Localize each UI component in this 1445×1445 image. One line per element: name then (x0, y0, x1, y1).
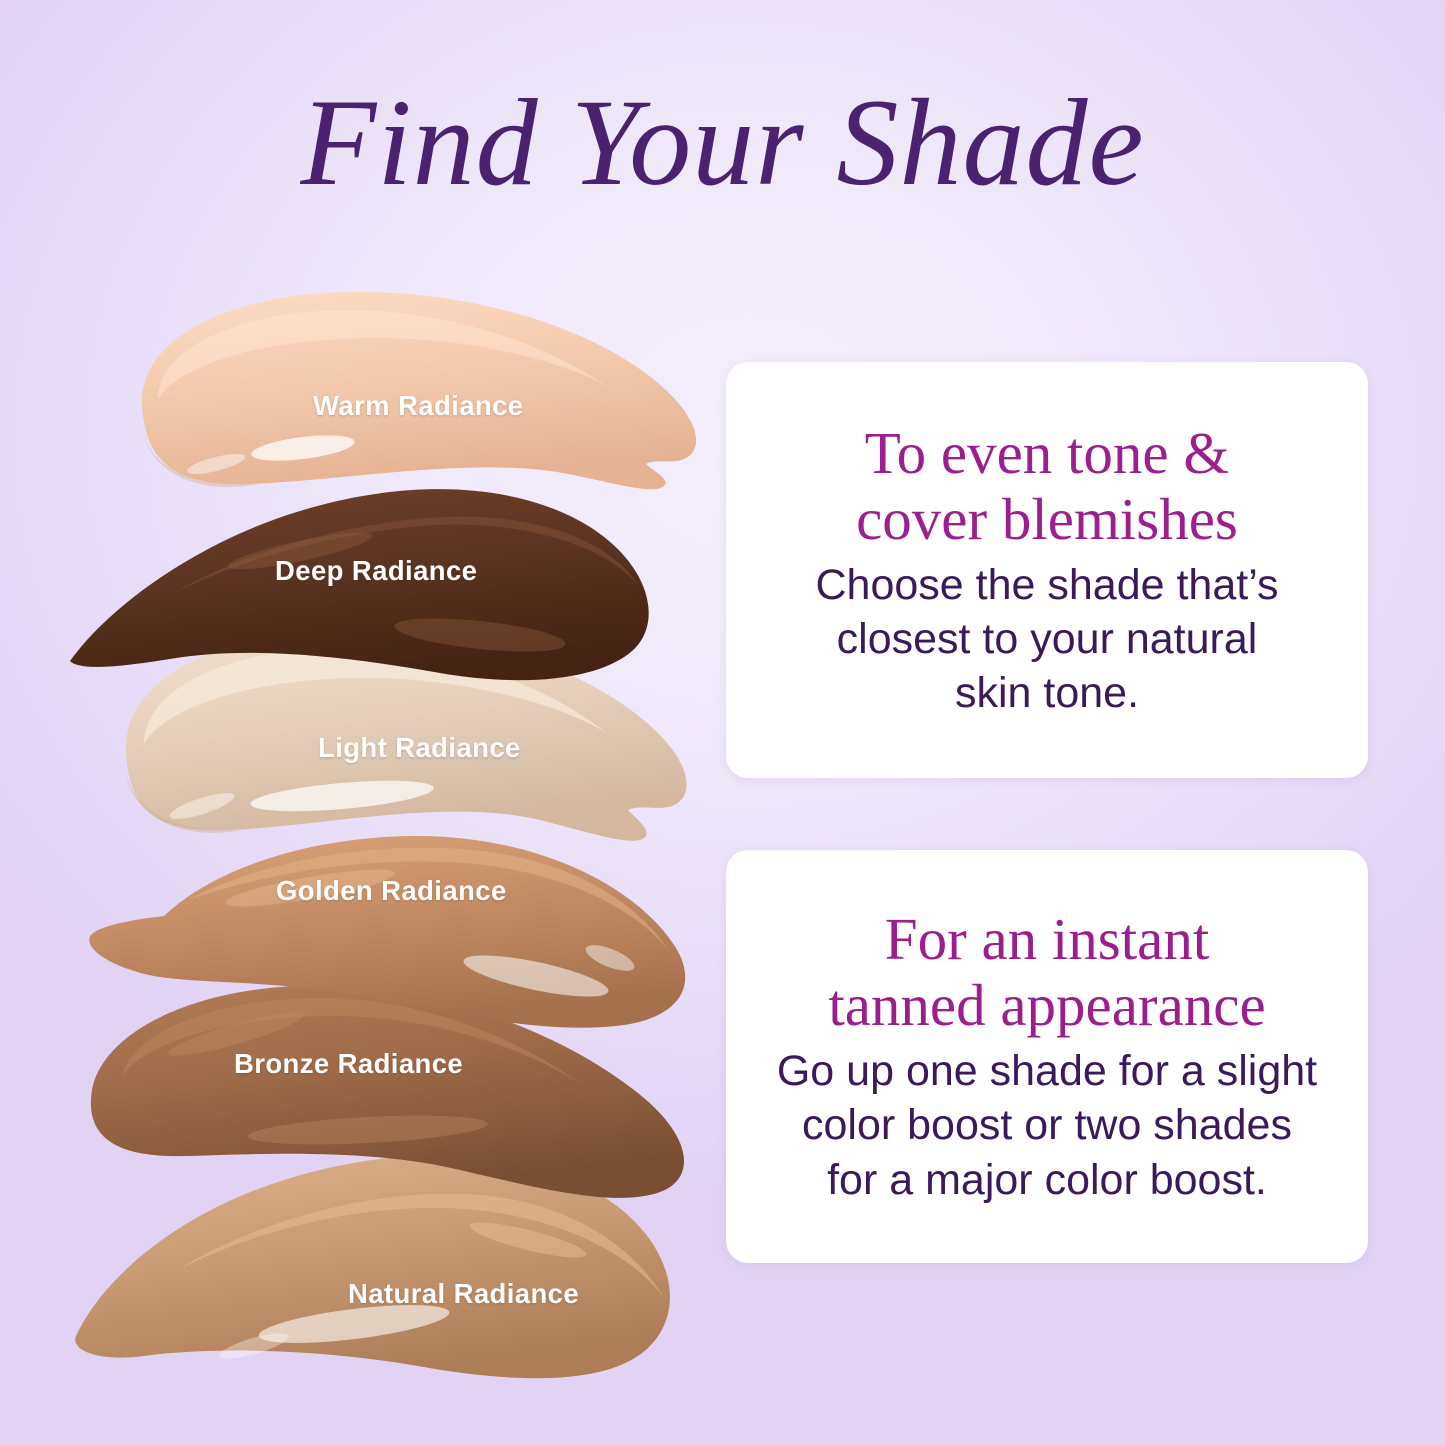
card-1-body-line-3: skin tone. (816, 666, 1279, 720)
card-2-body-line-3: for a major color boost. (777, 1153, 1317, 1207)
card-2-heading: For an instant tanned appearance (802, 906, 1291, 1038)
swatch-warm-radiance[interactable]: Warm Radiance (98, 288, 708, 518)
card-2-body: Go up one shade for a slight color boost… (751, 1044, 1343, 1207)
card-2-heading-line-2: tanned appearance (828, 972, 1265, 1038)
card-1-heading-line-2: cover blemishes (856, 486, 1238, 552)
card-2-body-line-1: Go up one shade for a slight (777, 1044, 1317, 1098)
card-2-body-line-2: color boost or two shades (777, 1098, 1317, 1152)
card-1-heading: To even tone & cover blemishes (830, 420, 1264, 552)
page-title: Find Your Shade (0, 78, 1445, 208)
card-1-body: Choose the shade that’s closest to your … (790, 558, 1305, 721)
card-2-heading-line-1: For an instant (828, 906, 1265, 972)
card-1-body-line-1: Choose the shade that’s (816, 558, 1279, 612)
shade-swatch-stack: Warm Radiance Deep Radiance (40, 280, 720, 1370)
info-card-tanned-appearance: For an instant tanned appearance Go up o… (726, 850, 1368, 1263)
card-1-body-line-2: closest to your natural (816, 612, 1279, 666)
info-card-even-tone: To even tone & cover blemishes Choose th… (726, 362, 1368, 778)
card-1-heading-line-1: To even tone & (856, 420, 1238, 486)
shade-finder-graphic: Find Your Shade (0, 0, 1445, 1445)
